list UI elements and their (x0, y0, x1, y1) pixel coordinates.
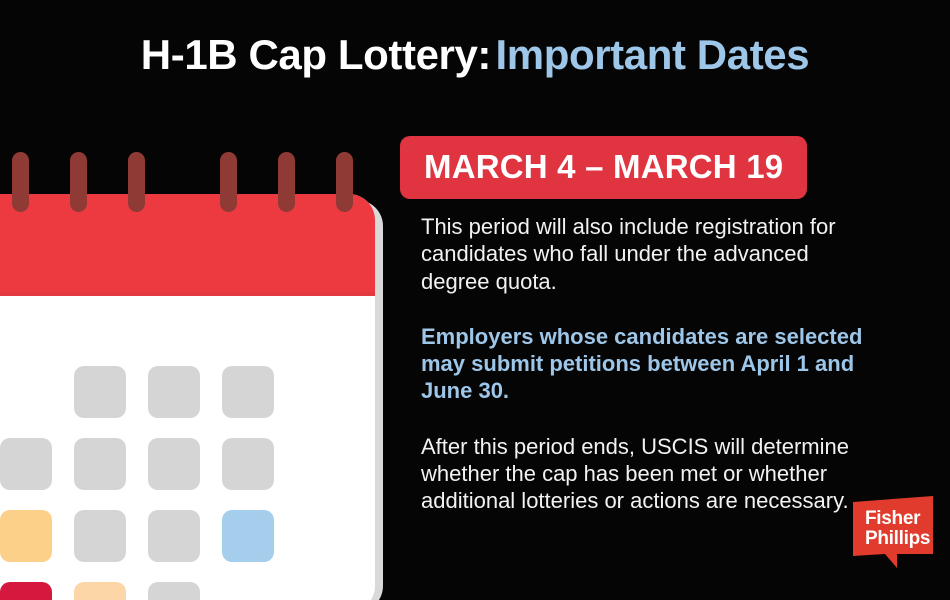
calendar-cell-gray (148, 582, 200, 600)
page-title-main: H-1B Cap Lottery: (141, 31, 491, 78)
logo-line-1: Fisher (865, 508, 921, 529)
calendar-ring-4 (220, 152, 237, 212)
calendar-week-row (0, 510, 346, 562)
content-panel: MARCH 4 – MARCH 19 This period will also… (400, 136, 900, 514)
calendar-cell-crimson (0, 582, 52, 600)
calendar-cell-empty (222, 582, 274, 600)
body-paragraph: Employers whose candidates are selected … (400, 323, 881, 405)
calendar-header-shade (0, 292, 375, 296)
calendar-ring-2 (70, 152, 87, 212)
date-range-banner: MARCH 4 – MARCH 19 (400, 136, 807, 199)
page-title: H-1B Cap Lottery: Important Dates (0, 34, 950, 76)
calendar-week-row (0, 366, 346, 418)
calendar-cell-gray (74, 366, 126, 418)
calendar-cell-gray (222, 366, 274, 418)
calendar-cell-gray (0, 438, 52, 490)
calendar-ring-1 (12, 152, 29, 212)
body-paragraph: This period will also include registrati… (400, 213, 881, 295)
calendar-ring-3 (128, 152, 145, 212)
calendar-header (0, 194, 375, 296)
fisher-phillips-logo: Fisher Phillips (845, 494, 941, 570)
calendar-cell-blue (222, 510, 274, 562)
calendar-cell-gray (222, 438, 274, 490)
calendar-cell-peach_light (74, 582, 126, 600)
infographic-canvas: H-1B Cap Lottery: Important Dates MARCH … (0, 0, 950, 600)
calendar-cell-gray (148, 510, 200, 562)
calendar-ring-5 (278, 152, 295, 212)
calendar-cell-empty (0, 366, 52, 418)
paragraph-list: This period will also include registrati… (400, 213, 900, 514)
page-title-accent: Important Dates (495, 31, 809, 78)
calendar-cell-gray (74, 438, 126, 490)
calendar-date-grid (0, 366, 346, 600)
logo-line-2: Phillips (865, 528, 930, 549)
calendar-week-row (0, 582, 346, 600)
calendar-ring-6 (336, 152, 353, 212)
calendar-cell-peach (0, 510, 52, 562)
calendar-cell-gray (148, 438, 200, 490)
calendar-card (0, 194, 375, 600)
calendar-illustration (0, 152, 377, 600)
calendar-week-row (0, 438, 346, 490)
calendar-cell-gray (74, 510, 126, 562)
body-paragraph: After this period ends, USCIS will deter… (400, 433, 881, 515)
logo-banner-icon: Fisher Phillips (845, 494, 941, 570)
calendar-cell-gray (148, 366, 200, 418)
date-range-label: MARCH 4 – MARCH 19 (424, 150, 783, 183)
